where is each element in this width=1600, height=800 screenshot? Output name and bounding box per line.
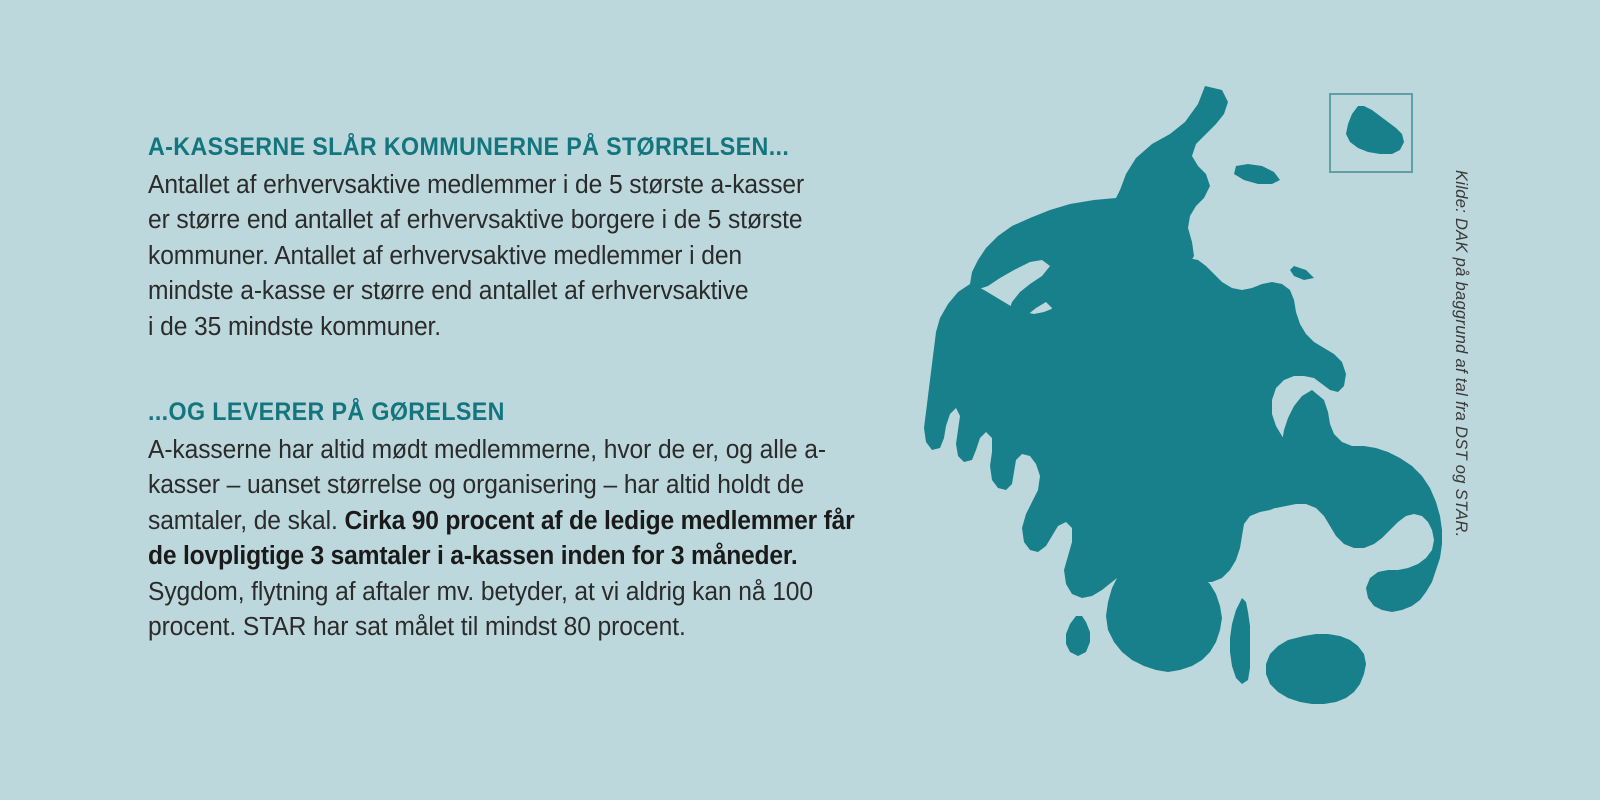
body-block-1: Antallet af erhvervsaktive medlemmer i d… [148,168,881,345]
map-region-bornholm [1346,106,1404,154]
body-line-1: Antallet af erhvervsaktive medlemmer i d… [148,171,804,199]
body-line-5: i de 35 mindste kommuner. [148,313,441,341]
body-2-part-2: Sygdom, flytning af aftaler mv. betyder,… [148,578,813,641]
body-line-4: mindste a-kasse er større end antallet a… [148,277,748,305]
map-region-jutland [924,258,1346,598]
map-region-als [1066,616,1090,656]
denmark-map [880,70,1480,710]
map-region-lolland-falster [1266,634,1366,704]
body-block-2: A-kasserne har altid mødt medlemmerne, h… [148,433,881,645]
body-line-2: er større end antallet af erhvervsaktive… [148,206,803,234]
text-column: A-KASSERNE SLÅR KOMMUNERNE PÅ STØRRELSEN… [148,132,908,645]
infographic-page: A-KASSERNE SLÅR KOMMUNERNE PÅ STØRRELSEN… [0,0,1600,800]
map-region-anholt [1290,266,1314,280]
body-line-3: kommuner. Antallet af erhvervsaktive med… [148,242,742,270]
heading-og-leverer-paa-goerelsen: ...OG LEVERER PÅ GØRELSEN [148,397,855,427]
heading-a-kasserne-slaar-kommunerne: A-KASSERNE SLÅR KOMMUNERNE PÅ STØRRELSEN… [148,132,855,162]
map-region-laesoe [1234,164,1280,184]
text-block-2: ...OG LEVERER PÅ GØRELSEN A-kasserne har… [148,397,908,645]
text-block-1: A-KASSERNE SLÅR KOMMUNERNE PÅ STØRRELSEN… [148,132,908,345]
map-region-zealand [1254,390,1442,612]
map-region-langeland [1230,598,1250,684]
